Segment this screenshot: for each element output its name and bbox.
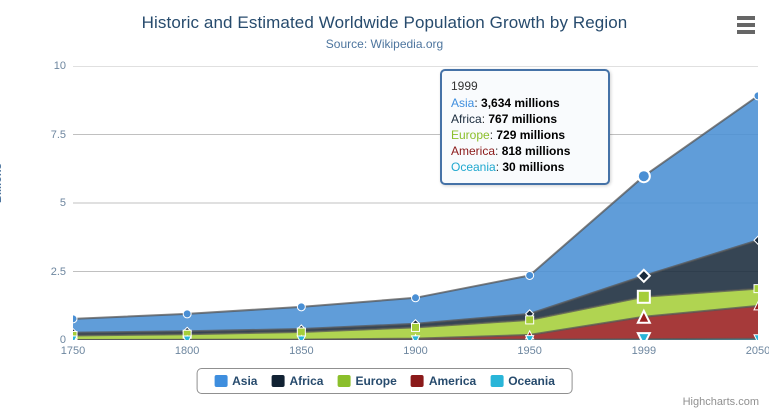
x-axis-tick-1800: 1800 [175, 345, 199, 357]
legend-label: Africa [289, 374, 323, 388]
marker-europe-1999[interactable] [638, 291, 650, 303]
legend-label: Europe [355, 374, 396, 388]
highcharts-credits[interactable]: Highcharts.com [683, 396, 759, 408]
legend-item-africa[interactable]: Africa [264, 374, 330, 388]
tooltip-series-name: Africa [451, 112, 482, 126]
marker-europe-1900[interactable] [412, 323, 420, 331]
plot-area [73, 66, 758, 340]
legend-item-asia[interactable]: Asia [207, 374, 264, 388]
marker-asia-2050[interactable] [754, 92, 758, 100]
marker-oceania-1999[interactable] [638, 333, 650, 340]
tooltip-separator: : [495, 144, 502, 158]
tooltip-series-value: 818 millions [502, 144, 571, 158]
legend-item-oceania[interactable]: Oceania [483, 374, 562, 388]
y-axis-tick-10: 10 [8, 60, 66, 72]
y-axis-tick-5: 5 [8, 197, 66, 209]
hamburger-bar [737, 23, 755, 27]
legend-swatch-europe [337, 375, 350, 387]
marker-asia-1900[interactable] [412, 294, 420, 302]
tooltip-series-value: 3,634 millions [481, 96, 560, 110]
legend-swatch-africa [271, 375, 284, 387]
legend-label: Oceania [508, 374, 555, 388]
x-axis-tick-1900: 1900 [403, 345, 427, 357]
legend-swatch-asia [214, 375, 227, 387]
tooltip-header: 1999 [451, 78, 599, 95]
tooltip-row: America: 818 millions [451, 143, 599, 159]
x-axis-tick-1950: 1950 [517, 345, 541, 357]
tooltip-series-value: 729 millions [496, 128, 565, 142]
marker-europe-2050[interactable] [754, 285, 758, 293]
tooltip-series-name: Asia [451, 96, 474, 110]
tooltip-row: Europe: 729 millions [451, 127, 599, 143]
tooltip-row: Africa: 767 millions [451, 111, 599, 127]
marker-asia-1800[interactable] [183, 310, 191, 318]
hamburger-bar [737, 16, 755, 20]
tooltip-series-name: Oceania [451, 160, 496, 174]
marker-europe-1950[interactable] [526, 316, 534, 324]
tooltip-row: Asia: 3,634 millions [451, 95, 599, 111]
marker-oceania-1850[interactable] [297, 336, 305, 340]
x-axis-tick-1850: 1850 [289, 345, 313, 357]
chart-legend: AsiaAfricaEuropeAmericaOceania [196, 368, 573, 394]
marker-asia-1850[interactable] [297, 303, 305, 311]
chart-tooltip: 1999 Asia: 3,634 millionsAfrica: 767 mil… [440, 69, 610, 185]
tooltip-rows: Asia: 3,634 millionsAfrica: 767 millions… [451, 95, 599, 175]
tooltip-series-name: Europe [451, 128, 490, 142]
chart-title: Historic and Estimated Worldwide Populat… [0, 13, 769, 33]
highcharts-chart: Historic and Estimated Worldwide Populat… [0, 0, 769, 416]
tooltip-series-name: America [451, 144, 495, 158]
legend-item-europe[interactable]: Europe [330, 374, 403, 388]
tooltip-series-value: 30 millions [502, 160, 564, 174]
hamburger-bar [737, 30, 755, 34]
y-axis-tick-7.5: 7.5 [8, 129, 66, 141]
tooltip-row: Oceania: 30 millions [451, 159, 599, 175]
marker-asia-1999[interactable] [638, 170, 650, 182]
chart-subtitle: Source: Wikipedia.org [0, 37, 769, 51]
tooltip-series-value: 767 millions [488, 112, 557, 126]
marker-asia-1950[interactable] [526, 271, 534, 279]
legend-label: America [429, 374, 476, 388]
marker-asia-1750[interactable] [73, 315, 77, 323]
x-axis-tick-1750: 1750 [61, 345, 85, 357]
legend-label: Asia [232, 374, 257, 388]
x-axis-tick-1999: 1999 [632, 345, 656, 357]
y-axis-tick-0: 0 [8, 334, 66, 346]
legend-swatch-oceania [490, 375, 503, 387]
legend-item-america[interactable]: America [404, 374, 483, 388]
legend-swatch-america [411, 375, 424, 387]
y-axis-title: Billions [0, 163, 4, 203]
y-axis-tick-2.5: 2.5 [8, 266, 66, 278]
hamburger-menu-icon[interactable] [731, 12, 761, 38]
marker-oceania-1800[interactable] [183, 336, 191, 340]
tooltip-separator: : [474, 96, 481, 110]
chart-svg [73, 66, 758, 340]
x-axis-tick-2050: 2050 [746, 345, 769, 357]
